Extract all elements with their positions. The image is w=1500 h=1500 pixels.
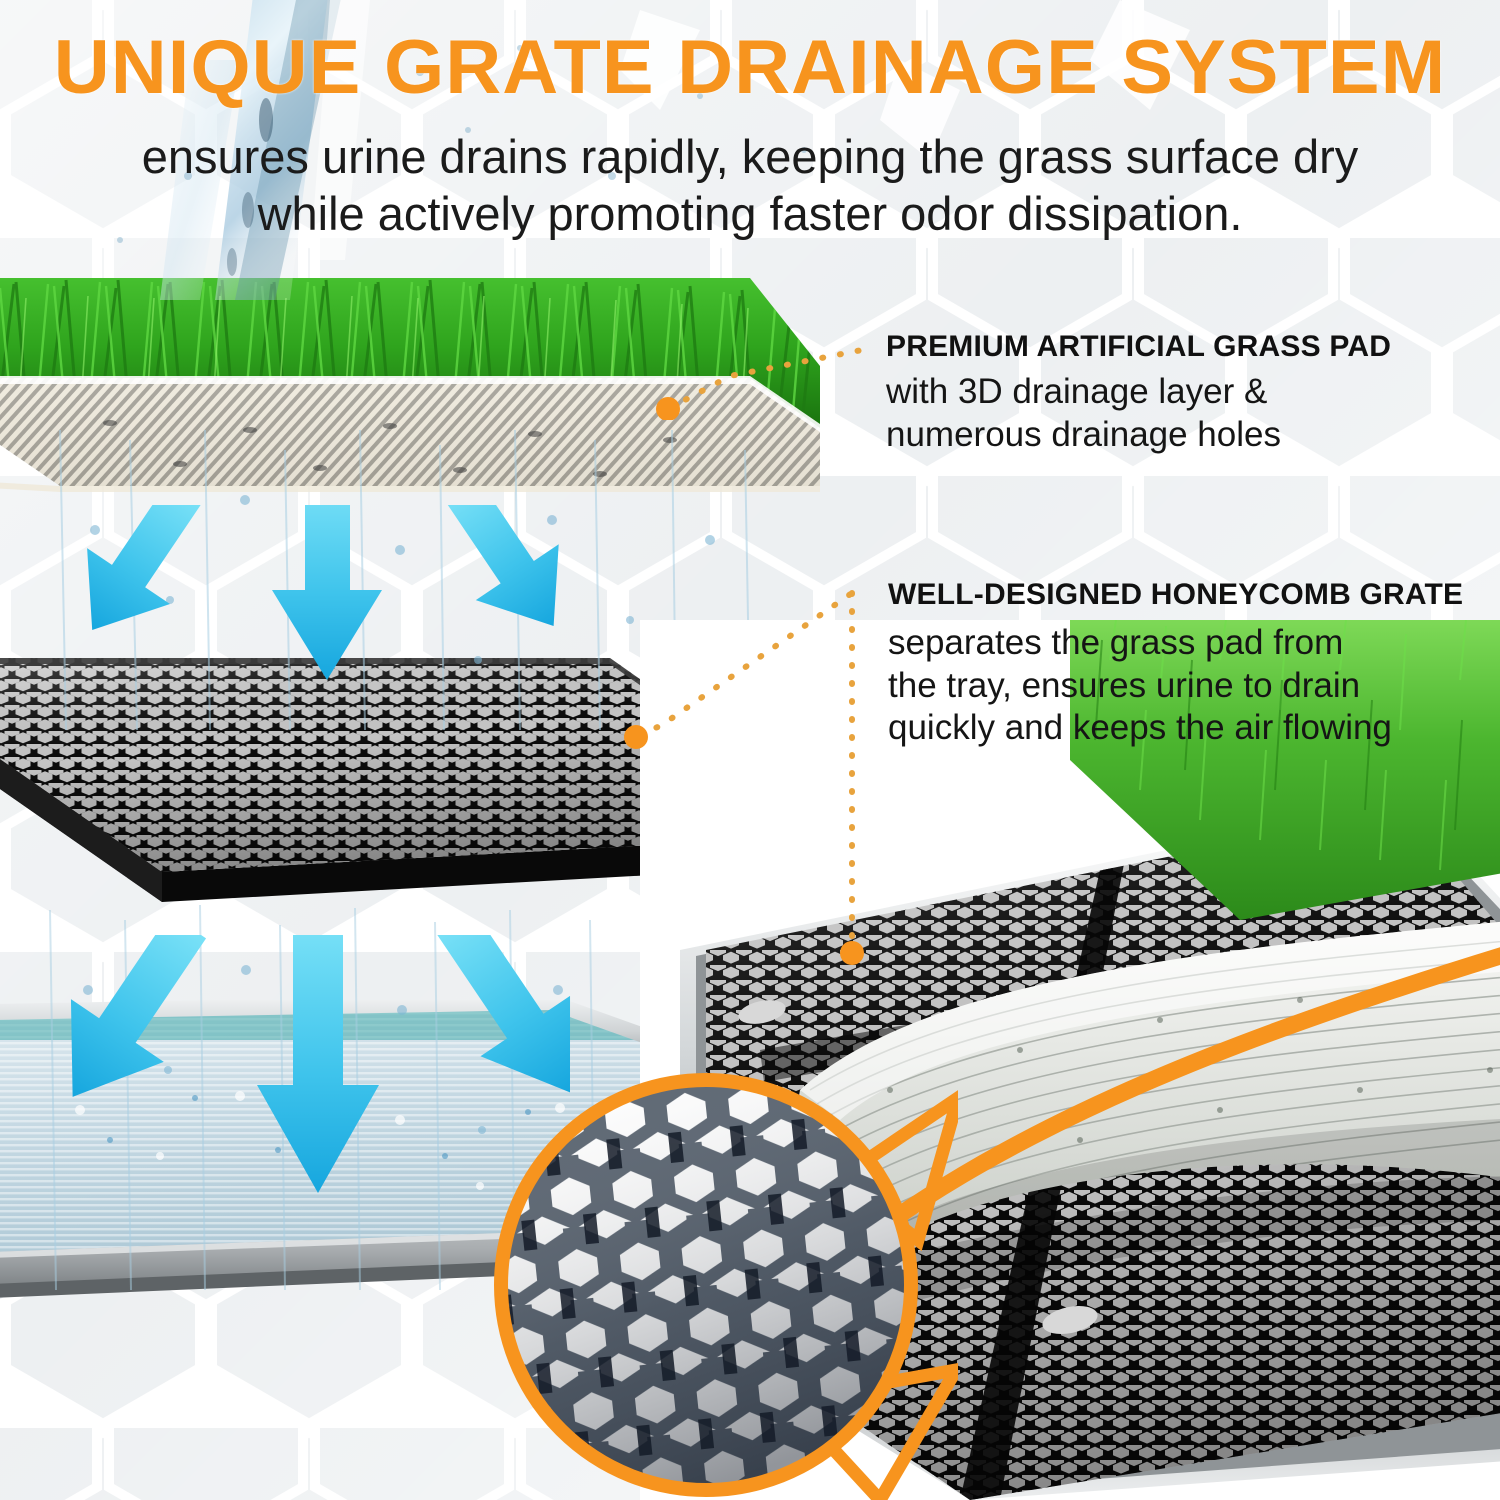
callout-body-line-2: the tray, ensures urine to drain bbox=[888, 665, 1463, 708]
leader-anchor-dot-grate bbox=[624, 725, 648, 749]
water-flow-arrows-upper bbox=[60, 505, 600, 705]
callout-body-line-1: separates the grass pad from bbox=[888, 622, 1463, 665]
subtitle-line-1: ensures urine drains rapidly, keeping th… bbox=[0, 128, 1500, 185]
callout-heading: WELL-DESIGNED HONEYCOMB GRATE bbox=[888, 578, 1463, 612]
leader-anchor-dot bbox=[656, 397, 680, 420]
leader-anchor-dot-photo bbox=[840, 941, 864, 965]
leader-line-grass-pad bbox=[640, 330, 900, 420]
callout-body: separates the grass pad from the tray, e… bbox=[888, 622, 1463, 750]
callout-premium-grass-pad: PREMIUM ARTIFICIAL GRASS PAD with 3D dra… bbox=[886, 330, 1391, 456]
infographic-canvas: UNIQUE GRATE DRAINAGE SYSTEM ensures uri… bbox=[0, 0, 1500, 1500]
page-subtitle: ensures urine drains rapidly, keeping th… bbox=[0, 128, 1500, 243]
subtitle-line-2: while actively promoting faster odor dis… bbox=[0, 185, 1500, 242]
callout-honeycomb-grate: WELL-DESIGNED HONEYCOMB GRATE separates … bbox=[888, 578, 1463, 750]
callout-body: with 3D drainage layer & numerous draina… bbox=[886, 371, 1391, 456]
callout-body-line-1: with 3D drainage layer & bbox=[886, 371, 1391, 414]
honeycomb-detail-magnifier bbox=[488, 1070, 958, 1500]
callout-body-line-3: quickly and keeps the air flowing bbox=[888, 707, 1463, 750]
callout-heading: PREMIUM ARTIFICIAL GRASS PAD bbox=[886, 330, 1391, 364]
callout-body-line-2: numerous drainage holes bbox=[886, 414, 1391, 457]
leader-line-honeycomb-grate bbox=[600, 565, 920, 975]
page-title: UNIQUE GRATE DRAINAGE SYSTEM bbox=[0, 30, 1500, 106]
title-text: UNIQUE GRATE DRAINAGE SYSTEM bbox=[0, 30, 1500, 106]
